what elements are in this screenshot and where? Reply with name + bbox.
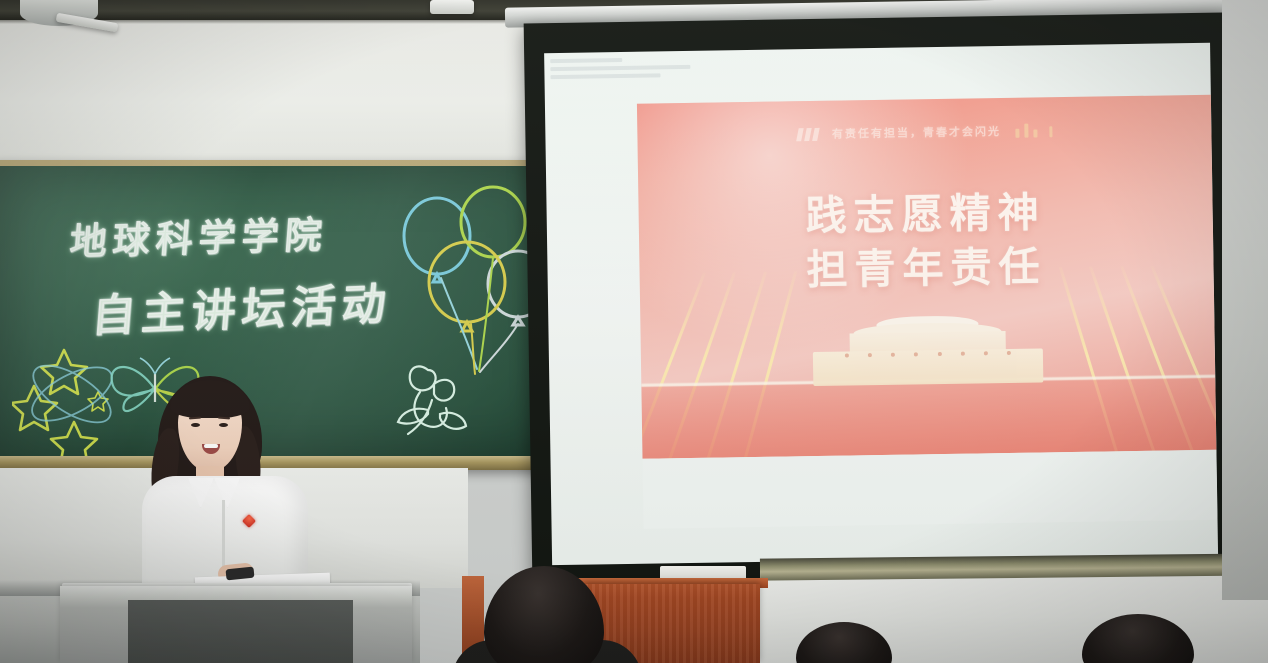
presenter-eye-left: [191, 423, 200, 427]
header-ornament-icon: [1015, 123, 1052, 138]
slide-header-text: 有责任有担当，青春才会闪光: [832, 123, 1001, 142]
slide-artwork: 有责任有担当，青春才会闪光 践志愿精神 担青年责任: [637, 95, 1217, 459]
presenter-eye-right: [219, 423, 228, 427]
header-bars-icon: [797, 127, 818, 140]
chalkboard-heading-line1: 地球科学学院: [68, 204, 330, 265]
chalkboard-heading-line2: 自主讲坛活动: [90, 268, 395, 345]
classroom-scene: 地球科学学院 自主讲坛活动: [0, 0, 1268, 663]
tiananmen-gate-illustration: [812, 308, 1043, 386]
presenter: [140, 368, 310, 598]
rose-doodle: [388, 348, 508, 453]
far-right-wall: [1222, 0, 1268, 600]
ceiling-light-mid: [430, 0, 474, 14]
slide-lower-margin: [642, 450, 1217, 529]
lectern-body: [128, 600, 353, 663]
slide-title-line1: 践志愿精神: [805, 188, 1046, 240]
projector-screen-frame: 有责任有担当，青春才会闪光 践志愿精神 担青年责任: [524, 13, 1233, 584]
presentation-toolbar-ghost: [550, 56, 751, 93]
projector-screen-surface: 有责任有担当，青春才会闪光 践志愿精神 担青年责任: [544, 43, 1218, 565]
slide-ground: [641, 378, 1216, 459]
